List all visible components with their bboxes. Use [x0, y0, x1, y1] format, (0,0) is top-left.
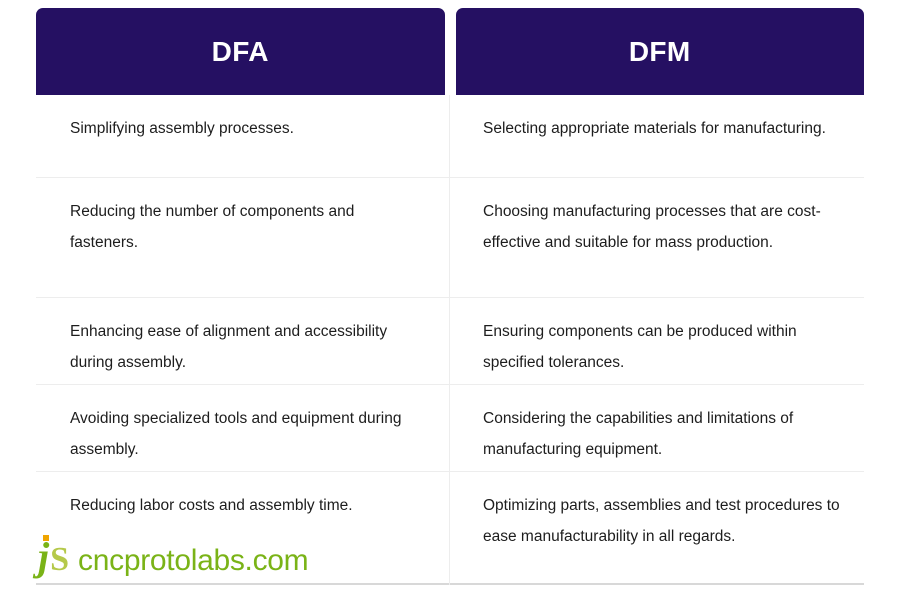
cell-dfm-5: Optimizing parts, assemblies and test pr… [450, 472, 864, 585]
table-row: Simplifying assembly processes. Selectin… [36, 95, 864, 178]
cell-dfm-3: Ensuring components can be produced with… [450, 298, 864, 384]
cell-dfa-1: Simplifying assembly processes. [36, 95, 450, 177]
table-header-row: DFA DFM [36, 8, 864, 95]
column-header-dfa-label: DFA [212, 36, 269, 68]
cell-dfm-2: Choosing manufacturing processes that ar… [450, 178, 864, 297]
cncprotolabs-logo[interactable]: j S cncprotolabs.com [36, 535, 314, 581]
table-body: Simplifying assembly processes. Selectin… [36, 95, 864, 585]
cell-dfm-4: Considering the capabilities and limitat… [450, 385, 864, 471]
column-header-dfm-label: DFM [629, 36, 691, 68]
logo-s-letter: S [50, 543, 69, 577]
logo-domain-text: cncprotolabs.com [78, 546, 308, 576]
column-header-dfm: DFM [456, 8, 865, 95]
cell-dfa-4: Avoiding specialized tools and equipment… [36, 385, 450, 471]
cell-dfa-3: Enhancing ease of alignment and accessib… [36, 298, 450, 384]
table-row: Avoiding specialized tools and equipment… [36, 385, 864, 472]
logo-dot-icon [43, 535, 49, 541]
logo-j-glyph: j [38, 537, 50, 577]
cell-dfm-1: Selecting appropriate materials for manu… [450, 95, 864, 177]
column-header-dfa: DFA [36, 8, 445, 95]
table-row: Enhancing ease of alignment and accessib… [36, 298, 864, 385]
table-row: Reducing the number of components and fa… [36, 178, 864, 298]
cell-dfa-2: Reducing the number of components and fa… [36, 178, 450, 297]
comparison-table-page: DFA DFM Simplifying assembly processes. … [0, 0, 900, 600]
